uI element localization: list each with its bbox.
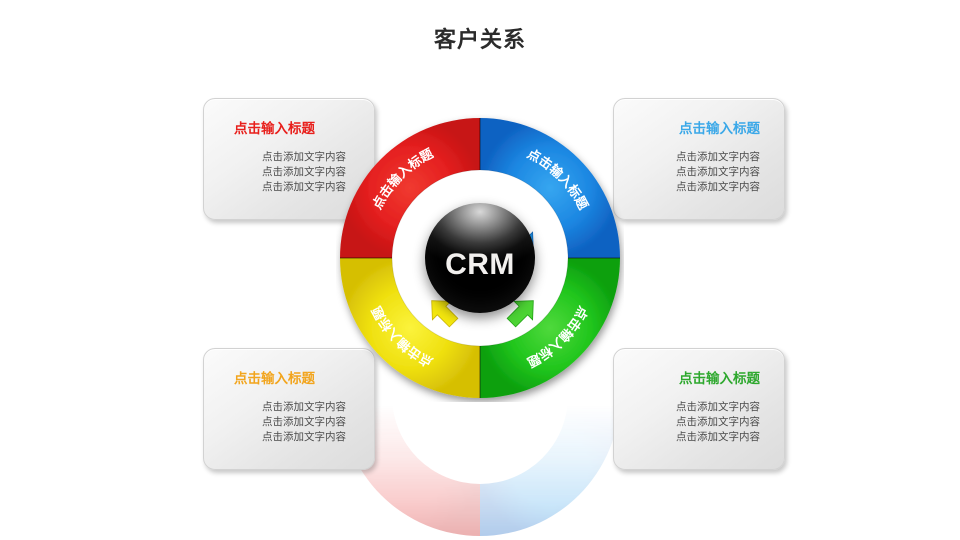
wheel-reflection — [336, 404, 624, 540]
center-sphere[interactable]: CRM — [425, 203, 535, 313]
page-title: 客户关系 — [0, 22, 960, 54]
center-sphere-label: CRM — [445, 248, 515, 282]
callout-box-bottom-right[interactable]: 点击输入标题 点击添加文字内容 点击添加文字内容 点击添加文字内容 — [613, 348, 785, 470]
callout-line: 点击添加文字内容 — [628, 400, 770, 415]
callout-line: 点击添加文字内容 — [628, 180, 770, 195]
callout-line: 点击添加文字内容 — [218, 430, 360, 445]
callout-box-top-right[interactable]: 点击输入标题 点击添加文字内容 点击添加文字内容 点击添加文字内容 — [613, 98, 785, 220]
callout-title-bottom-right: 点击输入标题 — [628, 367, 770, 387]
callout-line: 点击添加文字内容 — [628, 165, 770, 180]
callout-line: 点击添加文字内容 — [218, 415, 360, 430]
callout-line: 点击添加文字内容 — [628, 415, 770, 430]
callout-line: 点击添加文字内容 — [628, 150, 770, 165]
callout-line: 点击添加文字内容 — [218, 400, 360, 415]
callout-line: 点击添加文字内容 — [628, 430, 770, 445]
callout-title-top-right: 点击输入标题 — [628, 117, 770, 137]
